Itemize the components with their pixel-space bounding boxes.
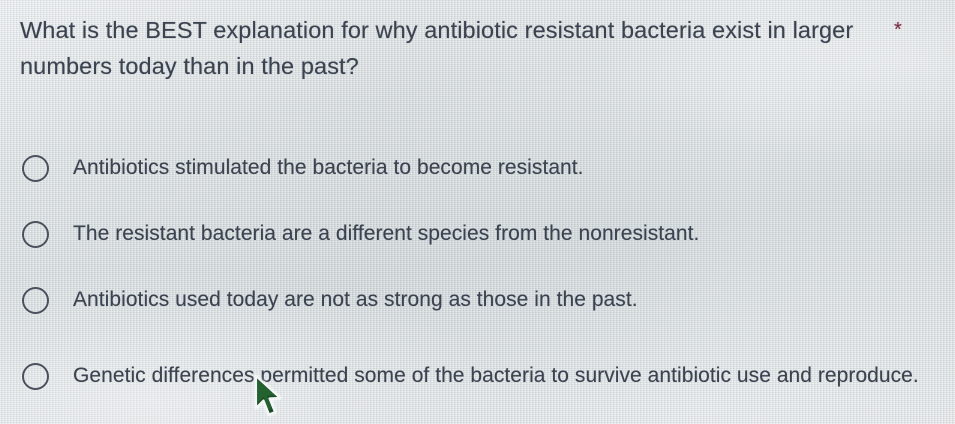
radio-unselected-icon[interactable] — [22, 155, 49, 182]
answer-option-d-label: Genetic differences permitted some of th… — [73, 360, 955, 392]
photographed-screen-surface: What is the BEST explanation for why ant… — [0, 0, 955, 424]
answer-option-d[interactable]: Genetic differences permitted some of th… — [0, 333, 955, 419]
required-asterisk: * — [894, 20, 902, 40]
radio-unselected-icon[interactable] — [22, 363, 49, 390]
answer-option-a-label: Antibiotics stimulated the bacteria to b… — [73, 152, 584, 184]
quiz-question-panel: What is the BEST explanation for why ant… — [0, 0, 955, 424]
answer-options-list: Antibiotics stimulated the bacteria to b… — [0, 135, 955, 419]
answer-option-c-label: Antibiotics used today are not as strong… — [73, 284, 638, 316]
answer-option-a[interactable]: Antibiotics stimulated the bacteria to b… — [0, 135, 955, 201]
radio-unselected-icon[interactable] — [22, 221, 49, 248]
question-text: What is the BEST explanation for why ant… — [20, 12, 882, 84]
radio-unselected-icon[interactable] — [22, 287, 49, 314]
answer-option-b[interactable]: The resistant bacteria are a different s… — [0, 201, 955, 267]
answer-option-c[interactable]: Antibiotics used today are not as strong… — [0, 267, 955, 333]
question-block: What is the BEST explanation for why ant… — [20, 12, 910, 84]
answer-option-b-label: The resistant bacteria are a different s… — [73, 218, 699, 250]
